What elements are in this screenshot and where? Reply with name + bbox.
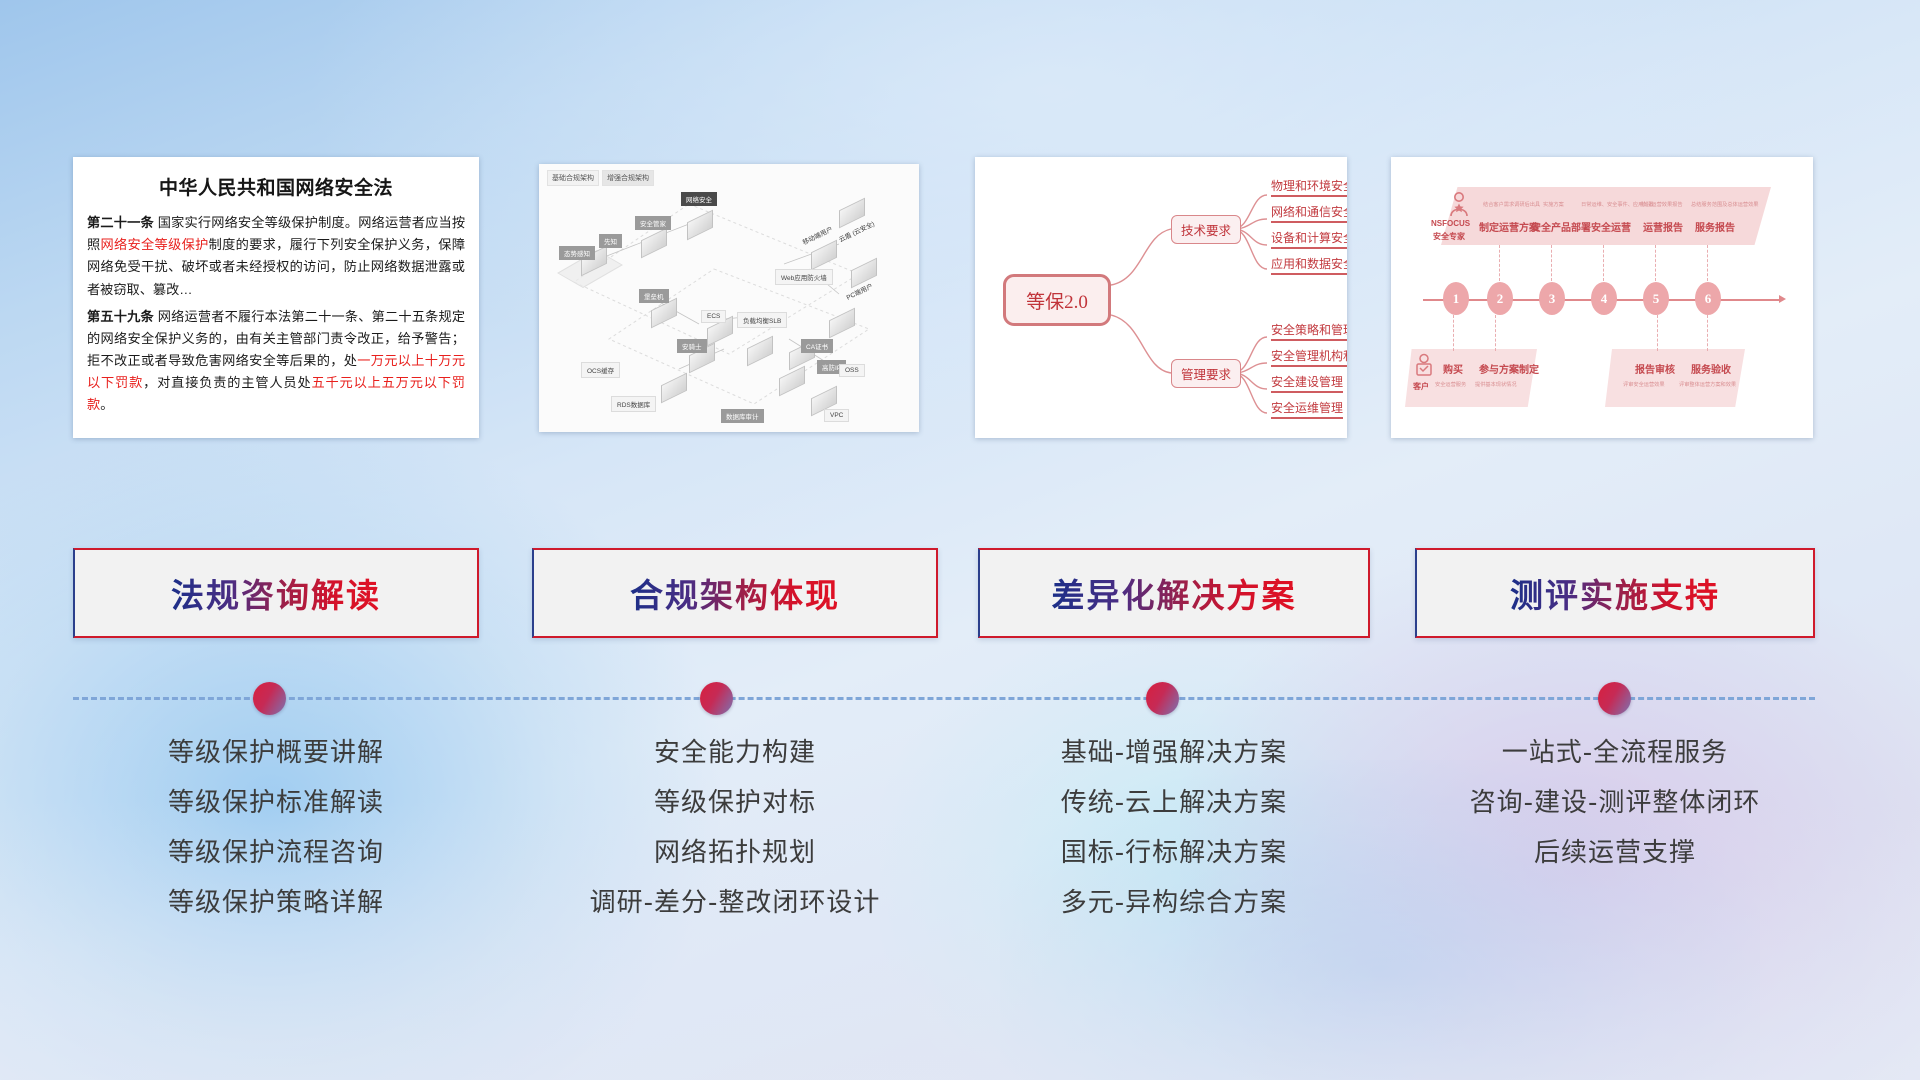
nsfocus-customer-role: 客户 <box>1413 381 1429 392</box>
architecture-node-label: 先知 <box>599 234 622 248</box>
nsfocus-axis-arrow <box>1779 295 1786 303</box>
timeline-dot-3[interactable] <box>1146 682 1179 715</box>
architecture-node-label: 网络安全 <box>681 192 717 206</box>
bullet-column-4: 一站式-全流程服务 咨询-建设-测评整体闭环 后续运营支撑 <box>1415 740 1815 890</box>
bullet-item: 后续运营支撑 <box>1415 840 1815 866</box>
nsfocus-tick <box>1707 315 1708 351</box>
section-title-3: 差异化解决方案 <box>1052 569 1297 617</box>
mindmap-canvas: 等保2.0 技术要求 管理要求 物理和环境安全 网络和通信安全 设备和计算安全 … <box>975 157 1347 438</box>
nsfocus-tick <box>1603 245 1604 281</box>
bullet-item: 网络拓扑规划 <box>532 840 938 866</box>
bullet-item: 等级保护标准解读 <box>73 790 479 816</box>
architecture-node-label: OSS <box>839 364 865 377</box>
nsfocus-tick <box>1551 245 1552 281</box>
thumbnail-compliance-architecture[interactable]: 基础合规架构 增强合规架构 <box>539 164 919 432</box>
bullet-column-1: 等级保护概要讲解 等级保护标准解读 等级保护流程咨询 等级保护策略详解 <box>73 740 479 940</box>
nsfocus-bottom-title-4: 服务验收 <box>1691 361 1731 376</box>
timeline-dot-1[interactable] <box>253 682 286 715</box>
nsfocus-brand-label: NSFOCUS <box>1431 219 1470 228</box>
bullet-item: 基础-增强解决方案 <box>978 740 1370 766</box>
architecture-node-label: VPC <box>824 409 849 422</box>
law-article-21-label: 第二十一条 <box>87 215 154 230</box>
nsfocus-bottom-title-3: 报告审核 <box>1635 361 1675 376</box>
mindmap-branch-management: 管理要求 <box>1171 359 1241 388</box>
architecture-node-label: RDS数据库 <box>611 396 656 412</box>
section-title-box-4[interactable]: 测评实施支持 <box>1415 548 1815 638</box>
thumbnail-nsfocus-timeline[interactable]: NSFOCUS 安全专家 客户 1 2 3 4 5 6 <box>1391 157 1813 438</box>
law-body: 第二十一条 国家实行网络安全等级保护制度。网络运营者应当按照网络安全等级保护制度… <box>73 212 479 417</box>
nsfocus-step-title-4: 安全运营 <box>1591 219 1631 234</box>
mindmap-center-node: 等保2.0 <box>1003 274 1111 326</box>
law-article-59: 第五十九条 网络运营者不履行本法第二十一条、第二十五条规定的网络安全保护义务的，… <box>87 306 465 417</box>
nsfocus-canvas: NSFOCUS 安全专家 客户 1 2 3 4 5 6 <box>1391 157 1813 438</box>
architecture-canvas: 基础合规架构 增强合规架构 <box>539 164 919 432</box>
mindmap-leaf-mgmt-3: 安全建设管理 <box>1271 373 1343 393</box>
architecture-node-label: 安骑士 <box>677 339 707 353</box>
customer-icon <box>1413 353 1435 379</box>
section-title-box-2[interactable]: 合规架构体现 <box>532 548 938 638</box>
mindmap-leaf-tech-3: 设备和计算安全 <box>1271 229 1347 249</box>
bullet-item: 传统-云上解决方案 <box>978 790 1370 816</box>
architecture-node-label: CA证书 <box>801 339 833 353</box>
nsfocus-step-title-2: 制定运营方案 <box>1479 219 1539 234</box>
thumbnail-row: 中华人民共和国网络安全法 第二十一条 国家实行网络安全等级保护制度。网络运营者应… <box>0 150 1920 440</box>
thumbnail-cybersecurity-law[interactable]: 中华人民共和国网络安全法 第二十一条 国家实行网络安全等级保护制度。网络运营者应… <box>73 157 479 438</box>
nsfocus-step-dot-1[interactable]: 1 <box>1443 282 1469 315</box>
section-title-box-3[interactable]: 差异化解决方案 <box>978 548 1370 638</box>
bullet-item: 多元-异构综合方案 <box>978 890 1370 916</box>
mindmap-leaf-tech-1: 物理和环境安全 <box>1271 177 1347 197</box>
bullet-item: 安全能力构建 <box>532 740 938 766</box>
nsfocus-bottom-sub-2: 提供基本现状情况 <box>1475 381 1517 388</box>
law-article-21-highlight: 网络安全等级保护 <box>101 237 209 252</box>
law-article-21: 第二十一条 国家实行网络安全等级保护制度。网络运营者应当按照网络安全等级保护制度… <box>87 212 465 301</box>
bullet-item: 一站式-全流程服务 <box>1415 740 1815 766</box>
architecture-node-label: 数据库审计 <box>721 409 764 423</box>
law-article-59-label: 第五十九条 <box>87 309 154 324</box>
architecture-node-label: 负载均衡SLB <box>737 312 787 328</box>
bullet-item: 咨询-建设-测评整体闭环 <box>1415 790 1815 816</box>
nsfocus-bottom-title-2: 参与方案制定 <box>1479 361 1539 376</box>
nsfocus-step-sub-6: 总结服务范围及总体运营效果 <box>1691 201 1758 208</box>
nsfocus-bottom-sub-3: 评审安全运营效果 <box>1623 381 1665 388</box>
nsfocus-step-dot-2[interactable]: 2 <box>1487 282 1513 315</box>
nsfocus-tick <box>1707 245 1708 281</box>
law-title: 中华人民共和国网络安全法 <box>73 173 479 200</box>
mindmap-leaf-mgmt-1: 安全策略和管理制度 <box>1271 321 1347 341</box>
law-article-59-text-3: 。 <box>100 397 113 412</box>
mindmap-leaf-mgmt-2: 安全管理机构和人员 <box>1271 347 1347 367</box>
nsfocus-step-dot-4[interactable]: 4 <box>1591 282 1617 315</box>
architecture-node-label: Web应用防火墙 <box>775 269 833 285</box>
law-article-59-text-2: ，对直接负责的主管人员处 <box>143 375 311 390</box>
nsfocus-expert-role: 安全专家 <box>1433 231 1465 242</box>
timeline-dot-2[interactable] <box>700 682 733 715</box>
section-title-2: 合规架构体现 <box>630 569 840 617</box>
timeline-dot-4[interactable] <box>1598 682 1631 715</box>
nsfocus-step-dot-5[interactable]: 5 <box>1643 282 1669 315</box>
timeline-dashed-line <box>73 697 1815 700</box>
nsfocus-tick <box>1453 315 1454 351</box>
bullet-column-3: 基础-增强解决方案 传统-云上解决方案 国标-行标解决方案 多元-异构综合方案 <box>978 740 1370 940</box>
nsfocus-step-sub-2: 结合客户需求调研后出具 <box>1483 201 1540 208</box>
nsfocus-step-title-6: 服务报告 <box>1695 219 1735 234</box>
mindmap-leaf-tech-2: 网络和通信安全 <box>1271 203 1347 223</box>
nsfocus-step-sub-5: 阶段运营效果报告 <box>1641 201 1683 208</box>
section-title-1: 法规咨询解读 <box>171 569 381 617</box>
nsfocus-top-band <box>1441 187 1771 245</box>
mindmap-leaf-mgmt-4: 安全运维管理 <box>1271 399 1343 419</box>
nsfocus-tick <box>1657 315 1658 351</box>
bullet-item: 等级保护策略详解 <box>73 890 479 916</box>
section-title-box-1[interactable]: 法规咨询解读 <box>73 548 479 638</box>
architecture-node-label: OCS缓存 <box>581 362 620 378</box>
nsfocus-bottom-sub-4: 评审整体运营方案和效果 <box>1679 381 1736 388</box>
bullet-item: 等级保护流程咨询 <box>73 840 479 866</box>
nsfocus-step-sub-3: 实施方案 <box>1543 201 1564 208</box>
mindmap-branch-technical: 技术要求 <box>1171 215 1241 244</box>
bullet-item: 国标-行标解决方案 <box>978 840 1370 866</box>
nsfocus-tick <box>1499 245 1500 281</box>
bullet-item: 调研-差分-整改闭环设计 <box>532 890 938 916</box>
security-expert-icon <box>1447 191 1471 217</box>
thumbnail-dengbao-mindmap[interactable]: 等保2.0 技术要求 管理要求 物理和环境安全 网络和通信安全 设备和计算安全 … <box>975 157 1347 438</box>
bullet-item: 等级保护对标 <box>532 790 938 816</box>
nsfocus-tick <box>1655 245 1656 281</box>
mindmap-leaf-tech-4: 应用和数据安全 <box>1271 255 1347 275</box>
nsfocus-step-title-5: 运营报告 <box>1643 219 1683 234</box>
architecture-node-label: 堡垒机 <box>639 289 669 303</box>
bullet-column-2: 安全能力构建 等级保护对标 网络拓扑规划 调研-差分-整改闭环设计 <box>532 740 938 940</box>
nsfocus-bottom-band-right <box>1605 349 1745 407</box>
nsfocus-step-title-3: 安全产品部署 <box>1531 219 1591 234</box>
nsfocus-step-dot-3[interactable]: 3 <box>1539 282 1565 315</box>
nsfocus-tick <box>1495 315 1496 351</box>
nsfocus-step-dot-6[interactable]: 6 <box>1695 282 1721 315</box>
architecture-node-label: 态势感知 <box>559 246 595 260</box>
section-title-4: 测评实施支持 <box>1510 569 1720 617</box>
nsfocus-bottom-title-1: 购买 <box>1443 361 1463 376</box>
architecture-node-label: ECS <box>701 310 726 323</box>
bullet-item: 等级保护概要讲解 <box>73 740 479 766</box>
architecture-node-label: 安全管家 <box>635 216 671 230</box>
nsfocus-bottom-sub-1: 安全运营服务 <box>1435 381 1466 388</box>
